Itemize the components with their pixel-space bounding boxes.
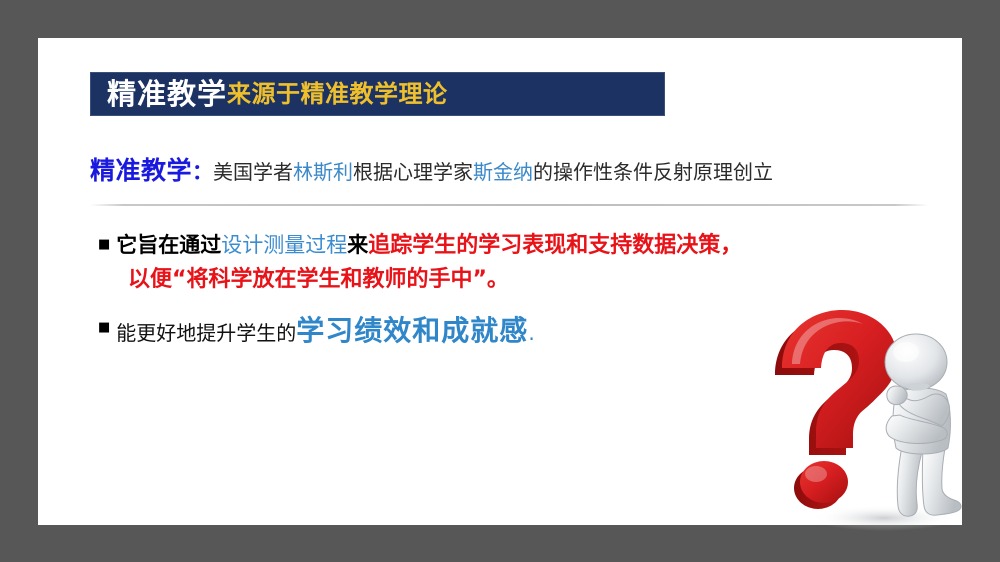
- bullet-square-icon: ■: [98, 228, 110, 262]
- list-item: ■ 它旨在通过设计测量过程来追踪学生的学习表现和支持数据决策，: [98, 228, 928, 263]
- question-mark-thinking-person-icon: [756, 306, 991, 536]
- definition-name-lindsley: 林斯利: [293, 160, 353, 184]
- horizontal-divider: [90, 204, 928, 206]
- definition-colon: ：: [192, 160, 213, 184]
- bullet-1-text-black-a: 它旨在通过: [116, 233, 221, 257]
- definition-name-skinner: 斯金纳: [473, 160, 533, 184]
- bullet-1-line-2-text: 以便“将科学放在学生和教师的手中”。: [128, 267, 509, 292]
- definition-segment-3: 的操作性条件反射原理创立: [533, 160, 773, 184]
- title-accent-text: 来源于精准教学理论: [227, 82, 448, 106]
- bullet-2-content: 能更好地提升学生的学习绩效和成就感.: [116, 311, 534, 353]
- bullet-square-icon: ■: [98, 311, 110, 345]
- definition-term: 精准教学: [90, 156, 192, 185]
- title-primary-text: 精准教学: [107, 80, 227, 109]
- bullet-1-text-red: 追踪学生的学习表现和支持数据决策，: [368, 233, 742, 258]
- bullet-2-period: .: [528, 321, 534, 345]
- definition-segment-2: 根据心理学家: [353, 160, 473, 184]
- bullet-1-line-2: 以便“将科学放在学生和教师的手中”。: [128, 263, 928, 299]
- definition-segment-1: 美国学者: [213, 160, 293, 184]
- bullet-1-line-1: 它旨在通过设计测量过程来追踪学生的学习表现和支持数据决策，: [116, 228, 742, 263]
- bullet-2-text-black: 能更好地提升学生的: [116, 321, 296, 345]
- bullet-2-text-emphasis: 学习绩效和成就感: [296, 314, 528, 347]
- slide-title-bar: 精准教学来源于精准教学理论: [90, 72, 665, 116]
- slide-canvas: 精准教学来源于精准教学理论 精准教学：美国学者林斯利根据心理学家斯金纳的操作性条…: [38, 38, 962, 525]
- bullet-1-text-black-b: 来: [347, 233, 368, 257]
- bullet-1-text-blue: 设计测量过程: [221, 233, 347, 257]
- definition-line: 精准教学：美国学者林斯利根据心理学家斯金纳的操作性条件反射原理创立: [90, 156, 930, 186]
